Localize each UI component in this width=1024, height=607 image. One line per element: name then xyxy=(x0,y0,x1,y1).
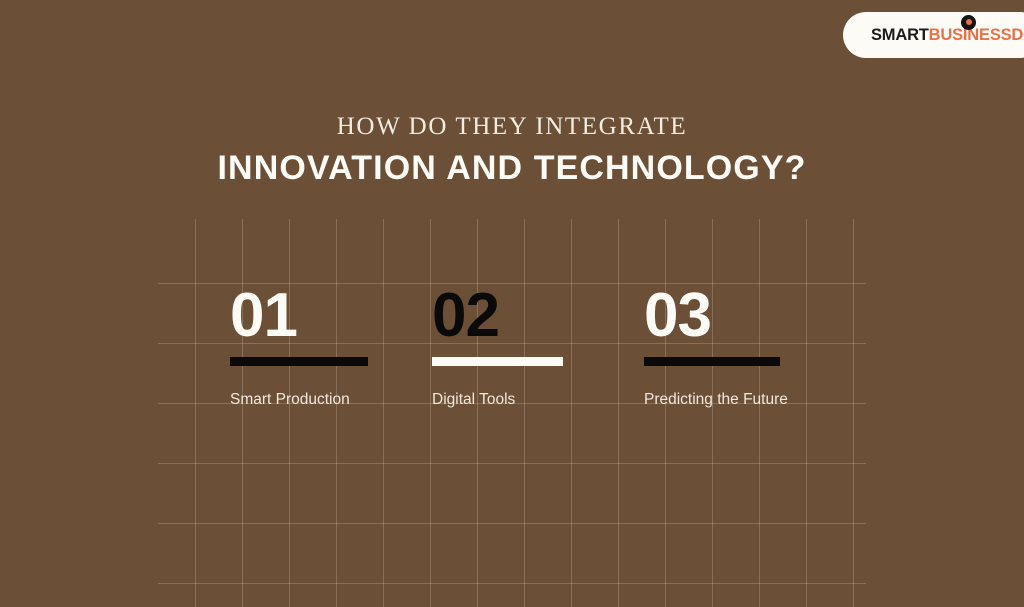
item-number: 03 xyxy=(644,285,794,347)
logo-primary-text: SMART xyxy=(871,26,929,44)
list-item: 01 Smart Production xyxy=(230,285,390,411)
item-underline-rule xyxy=(644,357,780,366)
item-label: Smart Production xyxy=(230,389,390,411)
grid-line-vertical xyxy=(759,219,760,607)
brand-logo[interactable]: SMARTBUSINESSDAILY xyxy=(843,12,1024,58)
item-number: 02 xyxy=(432,285,592,347)
list-item: 03 Predicting the Future xyxy=(644,285,794,411)
grid-line-vertical xyxy=(289,219,290,607)
page-title: INNOVATION AND TECHNOLOGY? xyxy=(0,150,1024,187)
grid-line-vertical xyxy=(336,219,337,607)
item-underline-rule xyxy=(230,357,368,366)
item-underline-rule xyxy=(432,357,563,366)
grid-line-vertical xyxy=(806,219,807,607)
grid-line-vertical xyxy=(430,219,431,607)
grid-line-vertical xyxy=(665,219,666,607)
item-number: 01 xyxy=(230,285,390,347)
item-label: Digital Tools xyxy=(432,389,592,411)
slide-canvas: SMARTBUSINESSDAILY HOW DO THEY INTEGRATE… xyxy=(0,0,1024,607)
grid-line-horizontal xyxy=(158,463,866,464)
grid-line-vertical xyxy=(571,219,572,607)
eyebrow-heading: HOW DO THEY INTEGRATE xyxy=(0,114,1024,139)
grid-line-vertical xyxy=(383,219,384,607)
grid-line-vertical xyxy=(618,219,619,607)
logo-accent-text: BUSINESSDAILY xyxy=(929,26,1024,44)
grid-line-vertical xyxy=(524,219,525,607)
grid-line-horizontal xyxy=(158,583,866,584)
grid-line-vertical xyxy=(853,219,854,607)
grid-line-horizontal xyxy=(158,523,866,524)
grid-line-vertical xyxy=(195,219,196,607)
item-label: Predicting the Future xyxy=(644,389,794,411)
grid-line-vertical xyxy=(712,219,713,607)
grid-line-vertical xyxy=(477,219,478,607)
circle-dot-icon xyxy=(961,15,976,30)
logo-wordmark: SMARTBUSINESSDAILY xyxy=(871,27,1024,44)
list-item: 02 Digital Tools xyxy=(432,285,592,411)
grid-line-vertical xyxy=(242,219,243,607)
